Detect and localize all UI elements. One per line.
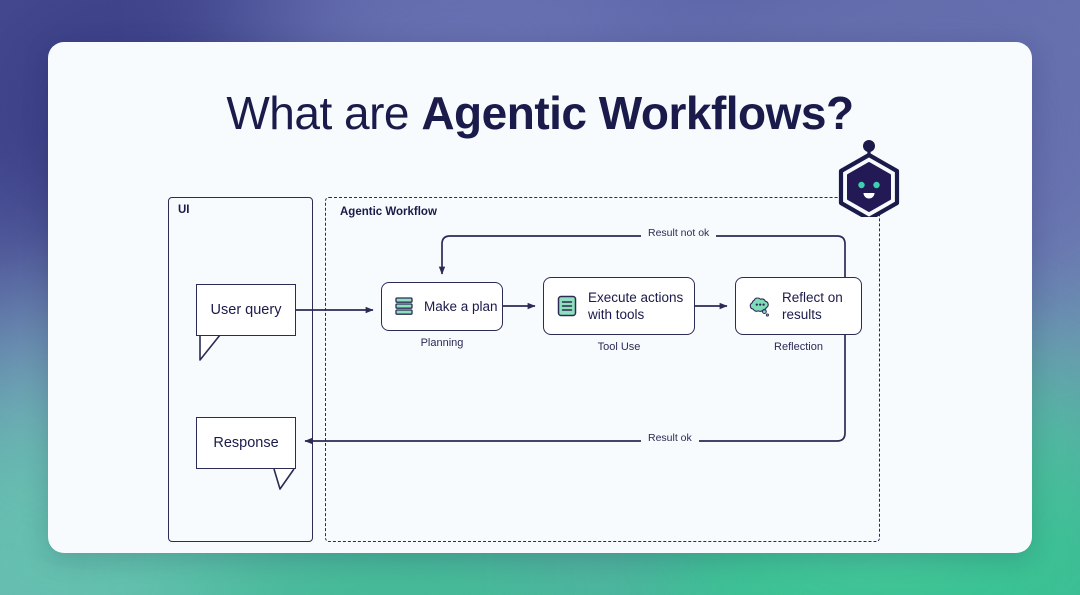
node-planning-label: Make a plan <box>424 298 498 315</box>
response-label: Response <box>213 435 278 451</box>
ui-container-label: UI <box>178 204 190 216</box>
edge-label-result-ok: Result ok <box>641 432 699 444</box>
caption-tool-use: Tool Use <box>543 341 695 353</box>
user-query-label: User query <box>211 302 282 318</box>
slide-card: What are Agentic Workflows? <box>48 42 1032 553</box>
document-lines-icon <box>556 294 578 318</box>
node-tool-use-line1: Execute actions <box>588 290 683 305</box>
node-reflection-line1: Reflect on <box>782 290 843 305</box>
thought-bubble-icon <box>748 294 772 318</box>
node-tool-use-line2: with tools <box>588 307 644 322</box>
node-reflection[interactable]: Reflect on results <box>735 277 862 335</box>
node-reflection-label: Reflect on results <box>782 289 843 324</box>
caption-planning: Planning <box>381 337 503 349</box>
user-query-bubble[interactable]: User query <box>196 284 296 336</box>
stacked-layers-icon <box>394 296 414 318</box>
node-tool-use-label: Execute actions with tools <box>588 289 683 324</box>
edge-label-result-not-ok: Result not ok <box>641 227 716 239</box>
agentic-workflow-container <box>325 197 880 542</box>
node-tool-use[interactable]: Execute actions with tools <box>543 277 695 335</box>
workflow-container-label: Agentic Workflow <box>340 206 437 218</box>
node-planning[interactable]: Make a plan <box>381 282 503 331</box>
response-bubble[interactable]: Response <box>196 417 296 469</box>
robot-hexagon-face-icon <box>833 139 905 217</box>
ui-container <box>168 197 313 542</box>
caption-reflection: Reflection <box>735 341 862 353</box>
node-reflection-line2: results <box>782 307 822 322</box>
agentic-workflow-diagram: UI Agentic Workflow User query Response … <box>48 42 1032 553</box>
